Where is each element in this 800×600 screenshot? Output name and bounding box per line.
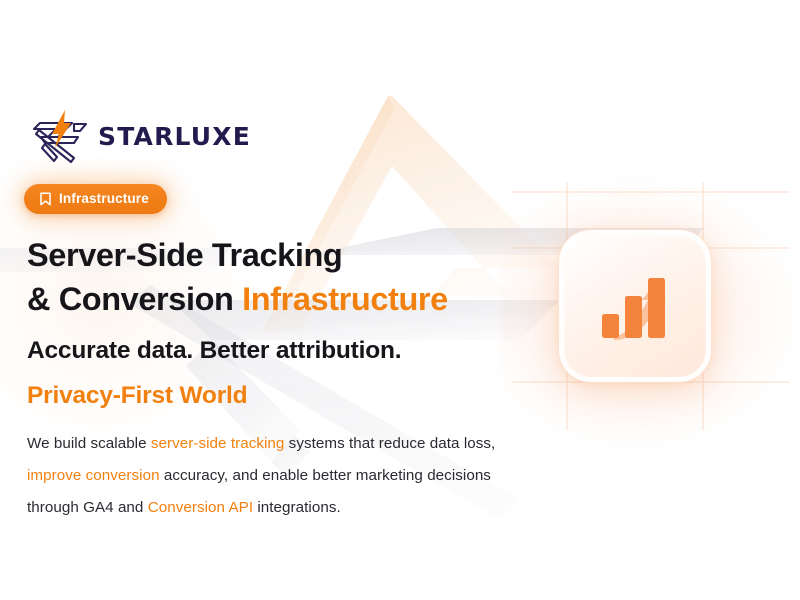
body-segment-1: We build scalable — [27, 435, 151, 452]
body-segment-7: integrations. — [253, 499, 341, 516]
description-paragraph: We build scalable server-side tracking s… — [27, 428, 497, 524]
body-link-server-side-tracking[interactable]: server-side tracking — [151, 435, 285, 452]
page-title: Server-Side Tracking & Conversion Infras… — [27, 233, 547, 321]
page-subtitle: Accurate data. Better attribution. Priva… — [27, 328, 547, 418]
subhead-line-1: Accurate data. Better attribution. — [27, 337, 401, 364]
subhead-line-2: Privacy-First World — [27, 373, 547, 418]
brand-wordmark: STARLUXE — [98, 124, 251, 149]
headline-line-1: Server-Side Tracking — [27, 237, 342, 273]
bar-chart-growth-arrow-icon — [592, 266, 678, 346]
headline-line-2-plain: & Conversion — [27, 281, 242, 317]
body-link-conversion-api[interactable]: Conversion API — [148, 499, 253, 516]
hero-section: STARLUXE Infrastructure Server-Side Trac… — [0, 0, 800, 600]
badge-container: Infrastructure — [24, 184, 167, 214]
badge-label: Infrastructure — [59, 192, 149, 206]
brand-logo[interactable]: STARLUXE — [28, 104, 251, 166]
body-segment-3: systems that reduce data loss, — [284, 435, 495, 452]
star-bolt-logo-icon — [28, 104, 94, 166]
feature-icon-card — [559, 230, 711, 382]
headline-line-2-accent: Infrastructure — [242, 281, 448, 317]
body-link-improve-conversion[interactable]: improve conversion — [27, 467, 160, 484]
bookmark-icon — [39, 192, 52, 206]
infrastructure-badge[interactable]: Infrastructure — [24, 184, 167, 214]
